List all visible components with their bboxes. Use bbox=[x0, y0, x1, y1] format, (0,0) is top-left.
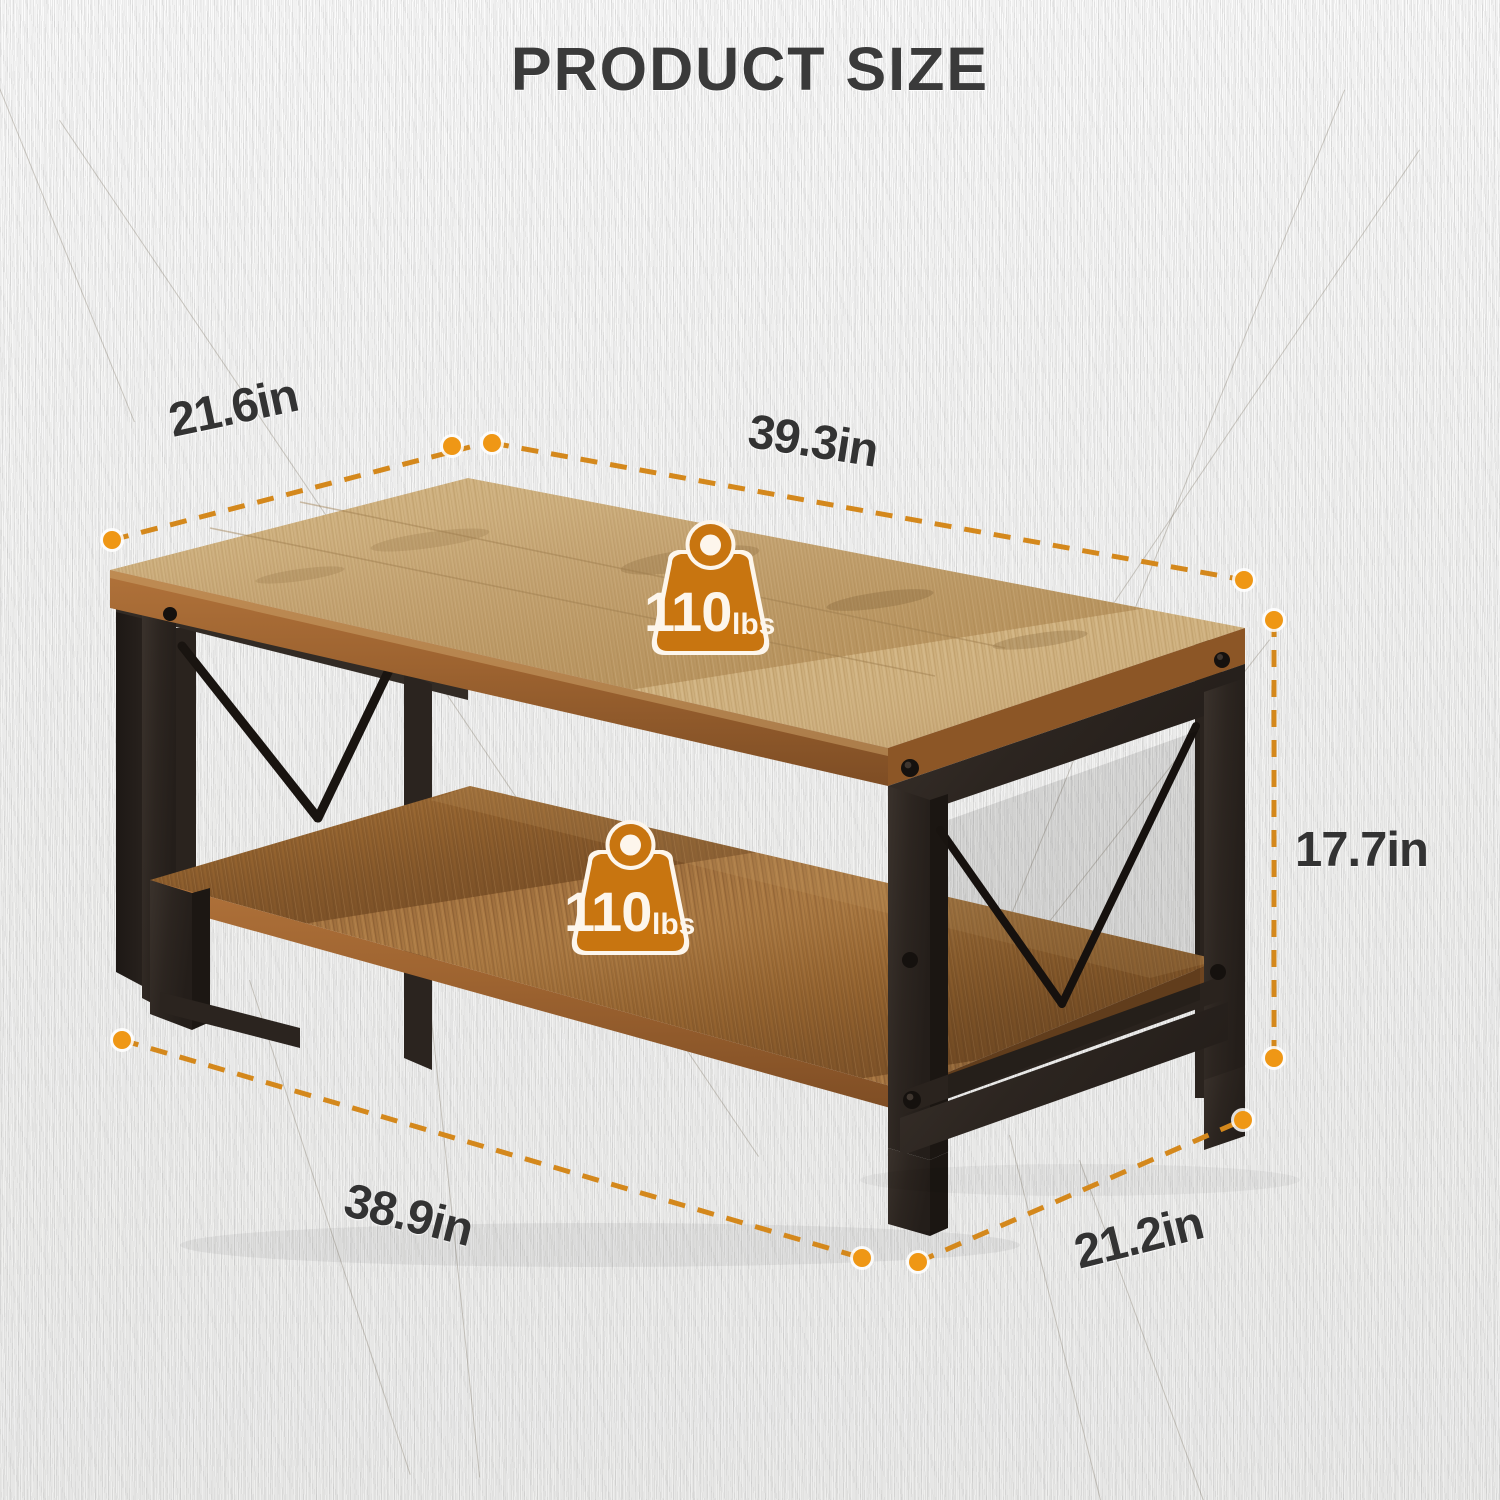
page-title: PRODUCT SIZE bbox=[0, 34, 1500, 104]
weight-unit: lbs bbox=[732, 610, 775, 640]
weight-value: 110 bbox=[644, 584, 731, 640]
weight-badge-bottom-shelf: 110 lbs bbox=[548, 812, 713, 962]
dimension-label-17-7in: 17.7in bbox=[1295, 822, 1428, 878]
weight-badge-top-shelf: 110 lbs bbox=[628, 512, 793, 662]
weight-unit: lbs bbox=[652, 910, 695, 940]
product-size-diagram: PRODUCT SIZE bbox=[0, 0, 1500, 1500]
weight-value: 110 bbox=[564, 884, 651, 940]
wall-texture-overlay bbox=[0, 0, 1500, 1500]
